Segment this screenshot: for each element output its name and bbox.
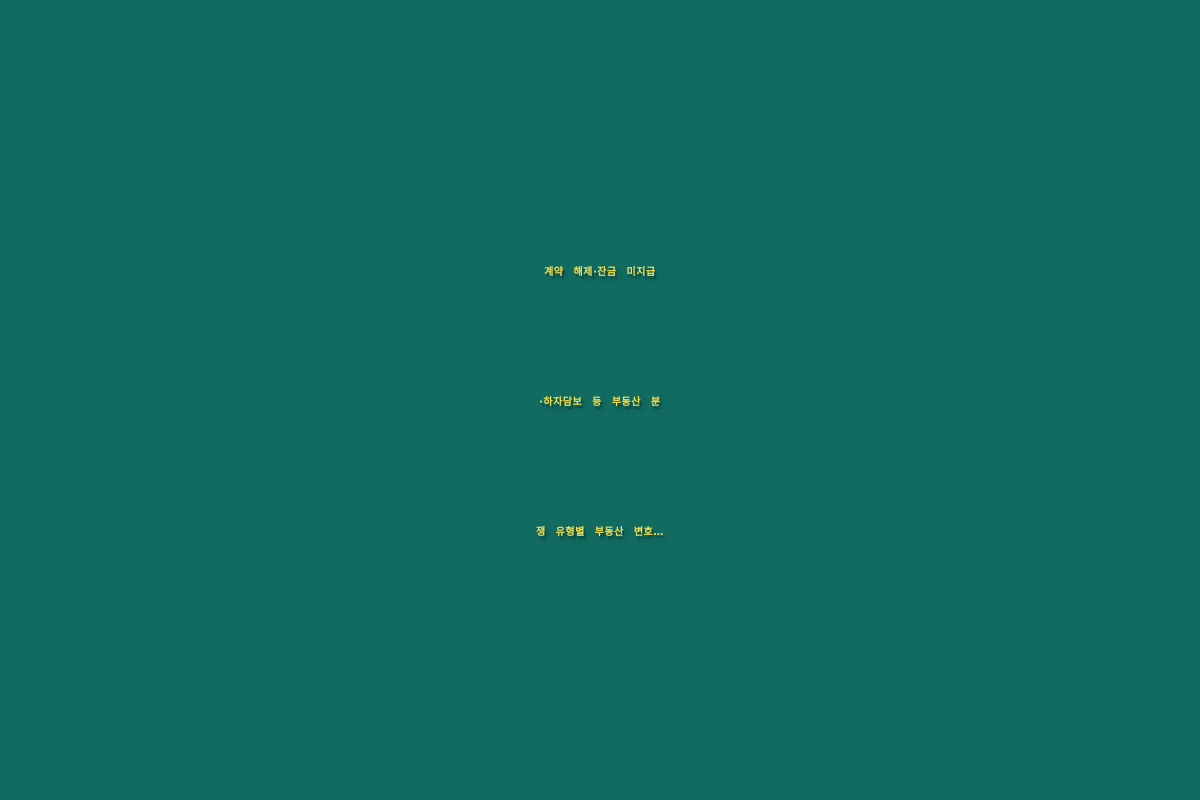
headline-line-1: 계약 해제·잔금 미지급: [100, 208, 1100, 338]
headline-line-2: ·하자담보 등 부동산 분: [100, 338, 1100, 468]
headline-line-3: 쟁 유형별 부동산 변호…: [100, 468, 1100, 598]
text-card: 계약 해제·잔금 미지급 ·하자담보 등 부동산 분 쟁 유형별 부동산 변호…: [0, 0, 1200, 800]
headline-text-block: 계약 해제·잔금 미지급 ·하자담보 등 부동산 분 쟁 유형별 부동산 변호…: [100, 208, 1100, 598]
